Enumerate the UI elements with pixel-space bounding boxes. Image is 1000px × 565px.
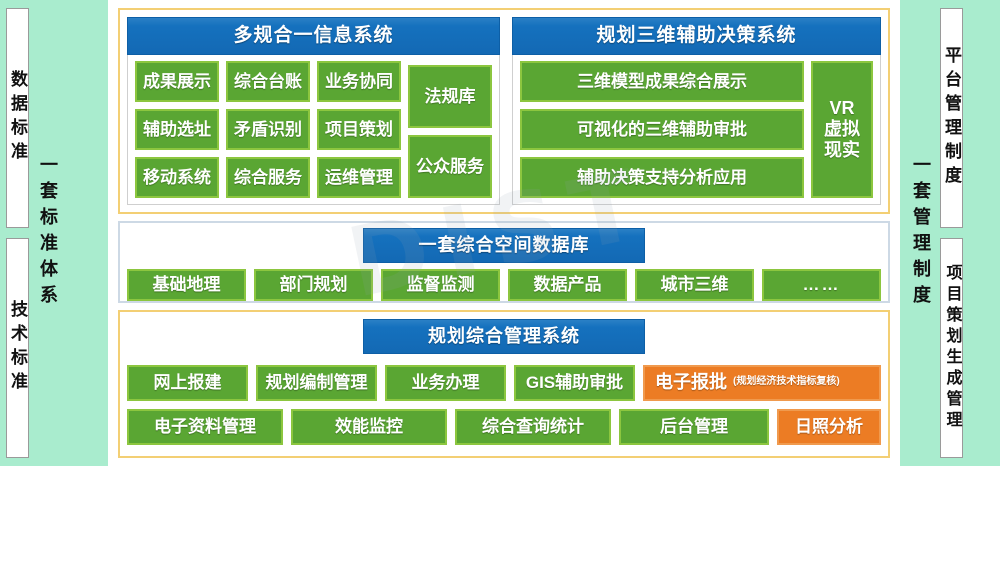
chip-electronic-approval[interactable]: 电子报批 (规划经济技术指标复核) [643, 365, 881, 401]
decision-grid: 三维模型成果综合展示 可视化的三维辅助审批 辅助决策支持分析应用 VR 虚拟 现… [520, 61, 873, 198]
chip-electronic-document-management[interactable]: 电子资料管理 [127, 409, 283, 445]
chip-city-3d[interactable]: 城市三维 [635, 269, 754, 301]
multiplan-grid: 成果展示 辅助选址 移动系统 综合台账 矛盾识别 综合服务 业务协同 项目策划 [135, 61, 492, 198]
chip-base-geography[interactable]: 基础地理 [127, 269, 246, 301]
planning-management-title: 规划综合管理系统 [363, 319, 645, 354]
system-multiplan: 多规合一信息系统 成果展示 辅助选址 移动系统 综合台账 矛盾识别 综合服务 [127, 17, 500, 205]
chip-integrated-ledger[interactable]: 综合台账 [226, 61, 310, 102]
chip-decision-support-analysis[interactable]: 辅助决策支持分析应用 [520, 157, 804, 198]
right-rail-chip-platform-management[interactable]: 平台管理制度 [940, 8, 963, 228]
planning-row-1: 网上报建 规划编制管理 业务办理 GIS辅助审批 电子报批 (规划经济技术指标复… [127, 365, 881, 401]
chip-integrated-query-statistics[interactable]: 综合查询统计 [455, 409, 611, 445]
chip-business-handling[interactable]: 业务办理 [385, 365, 506, 401]
multiplan-column-1: 成果展示 辅助选址 移动系统 [135, 61, 219, 198]
right-rail-chip-label: 平台管理制度 [943, 46, 960, 190]
multiplan-column-2: 综合台账 矛盾识别 综合服务 [226, 61, 310, 198]
database-chip-row: 基础地理 部门规划 监督监测 数据产品 城市三维 …… [127, 269, 881, 301]
chip-mobile-system[interactable]: 移动系统 [135, 157, 219, 198]
chip-more-ellipsis[interactable]: …… [762, 269, 881, 301]
chip-assisted-siting[interactable]: 辅助选址 [135, 109, 219, 150]
left-rail-group-label: 一套标准体系 [33, 8, 63, 458]
chip-public-service[interactable]: 公众服务 [408, 135, 492, 198]
chip-achievement-display[interactable]: 成果展示 [135, 61, 219, 102]
chip-sunlight-analysis[interactable]: 日照分析 [777, 409, 881, 445]
chip-supervision-monitoring[interactable]: 监督监测 [381, 269, 500, 301]
planning-row-2: 电子资料管理 效能监控 综合查询统计 后台管理 日照分析 [127, 409, 881, 445]
left-rail-chip-label: 技术标准 [9, 300, 26, 396]
left-rail: 数据标准 技术标准 一套标准体系 [0, 0, 108, 466]
vr-line-1: VR [829, 99, 854, 118]
left-rail-chip-data-standard[interactable]: 数据标准 [6, 8, 29, 228]
chip-online-application[interactable]: 网上报建 [127, 365, 248, 401]
database-panel: 一套综合空间数据库 基础地理 部门规划 监督监测 数据产品 城市三维 …… [118, 221, 890, 303]
right-rail-chip-project-planning-generation[interactable]: 项目策划生成管理 [940, 238, 963, 458]
chip-conflict-identification[interactable]: 矛盾识别 [226, 109, 310, 150]
electronic-approval-main-label: 电子报批 [655, 373, 727, 392]
system-3d-decision-title: 规划三维辅助决策系统 [512, 17, 881, 55]
system-multiplan-body: 成果展示 辅助选址 移动系统 综合台账 矛盾识别 综合服务 业务协同 项目策划 [127, 55, 500, 205]
right-rail-chip-label: 项目策划生成管理 [944, 264, 960, 432]
main-stack: 多规合一信息系统 成果展示 辅助选址 移动系统 综合台账 矛盾识别 综合服务 [108, 0, 900, 466]
decision-rows: 三维模型成果综合展示 可视化的三维辅助审批 辅助决策支持分析应用 [520, 61, 804, 198]
chip-department-planning[interactable]: 部门规划 [254, 269, 373, 301]
chip-gis-assisted-approval[interactable]: GIS辅助审批 [514, 365, 635, 401]
chip-data-products[interactable]: 数据产品 [508, 269, 627, 301]
chip-business-collaboration[interactable]: 业务协同 [317, 61, 401, 102]
chip-backend-management[interactable]: 后台管理 [619, 409, 769, 445]
system-3d-decision: 规划三维辅助决策系统 三维模型成果综合展示 可视化的三维辅助审批 辅助决策支持分… [512, 17, 881, 205]
multiplan-column-3: 业务协同 项目策划 运维管理 [317, 61, 401, 198]
left-rail-chip-tech-standard[interactable]: 技术标准 [6, 238, 29, 458]
chip-project-planning[interactable]: 项目策划 [317, 109, 401, 150]
chip-regulation-library[interactable]: 法规库 [408, 65, 492, 128]
architecture-diagram: DIST 数据标准 技术标准 一套标准体系 多规合一信息系统 成 [0, 0, 1000, 466]
chip-vr-virtual-reality[interactable]: VR 虚拟 现实 [811, 61, 873, 198]
chip-performance-monitoring[interactable]: 效能监控 [291, 409, 447, 445]
planning-management-panel: 规划综合管理系统 网上报建 规划编制管理 业务办理 GIS辅助审批 电子报批 (… [118, 310, 890, 458]
vr-line-2: 虚拟 [824, 120, 860, 139]
chip-integrated-services[interactable]: 综合服务 [226, 157, 310, 198]
chip-om-management[interactable]: 运维管理 [317, 157, 401, 198]
chip-planning-compilation-management[interactable]: 规划编制管理 [256, 365, 377, 401]
left-rail-chips: 数据标准 技术标准 [6, 8, 29, 458]
system-multiplan-title: 多规合一信息系统 [127, 17, 500, 55]
right-rail-chips: 平台管理制度 项目策划生成管理 [940, 8, 963, 458]
right-rail: 一套管理制度 平台管理制度 项目策划生成管理 [900, 0, 1000, 466]
top-panel: 多规合一信息系统 成果展示 辅助选址 移动系统 综合台账 矛盾识别 综合服务 [118, 8, 890, 214]
database-title: 一套综合空间数据库 [363, 228, 645, 263]
planning-management-body: 网上报建 规划编制管理 业务办理 GIS辅助审批 电子报批 (规划经济技术指标复… [127, 360, 881, 449]
left-rail-chip-label: 数据标准 [9, 70, 26, 166]
right-rail-group-label: 一套管理制度 [906, 8, 936, 458]
electronic-approval-sub-label: (规划经济技术指标复核) [733, 377, 840, 388]
chip-3d-model-display[interactable]: 三维模型成果综合展示 [520, 61, 804, 102]
multiplan-column-4: 法规库 公众服务 [408, 61, 492, 198]
vr-line-3: 现实 [824, 141, 860, 160]
system-3d-decision-body: 三维模型成果综合展示 可视化的三维辅助审批 辅助决策支持分析应用 VR 虚拟 现… [512, 55, 881, 205]
chip-visual-3d-approval[interactable]: 可视化的三维辅助审批 [520, 109, 804, 150]
